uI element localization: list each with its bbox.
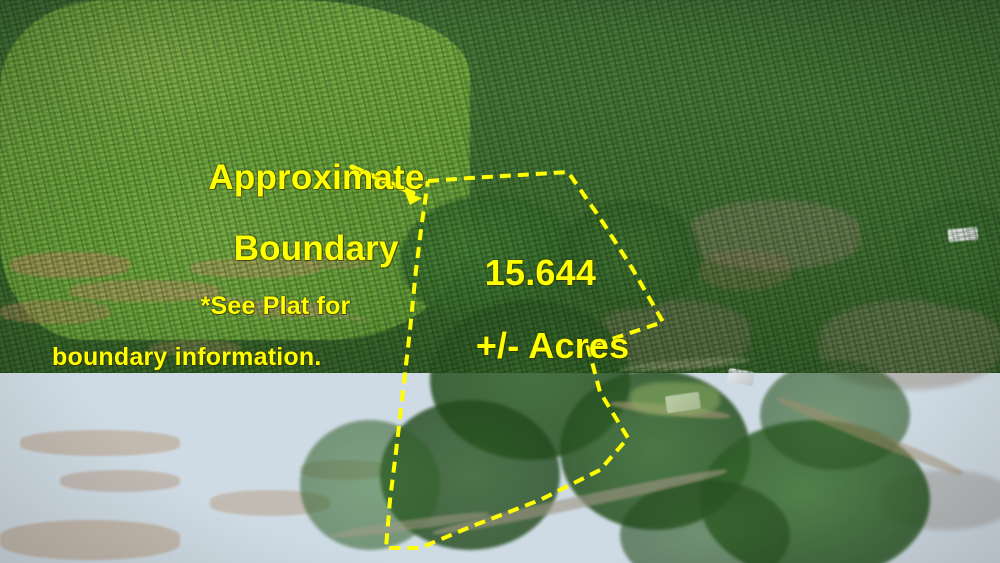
aerial-photo-stage: Approximate Boundary 15.644 +/- Acres *S… bbox=[0, 0, 1000, 563]
acreage-callout: 15.644 +/- Acres bbox=[435, 218, 605, 402]
boundary-callout-line2: Boundary bbox=[234, 231, 399, 267]
boundary-callout-line1: Approximate bbox=[208, 158, 424, 197]
plat-note-line1: *See Plat for bbox=[201, 294, 351, 320]
acreage-value: 15.644 bbox=[485, 252, 596, 293]
plat-note-line2: boundary information. bbox=[52, 345, 350, 371]
acreage-unit: +/- Acres bbox=[476, 325, 630, 366]
plat-note: *See Plat for boundary information. bbox=[110, 268, 350, 421]
